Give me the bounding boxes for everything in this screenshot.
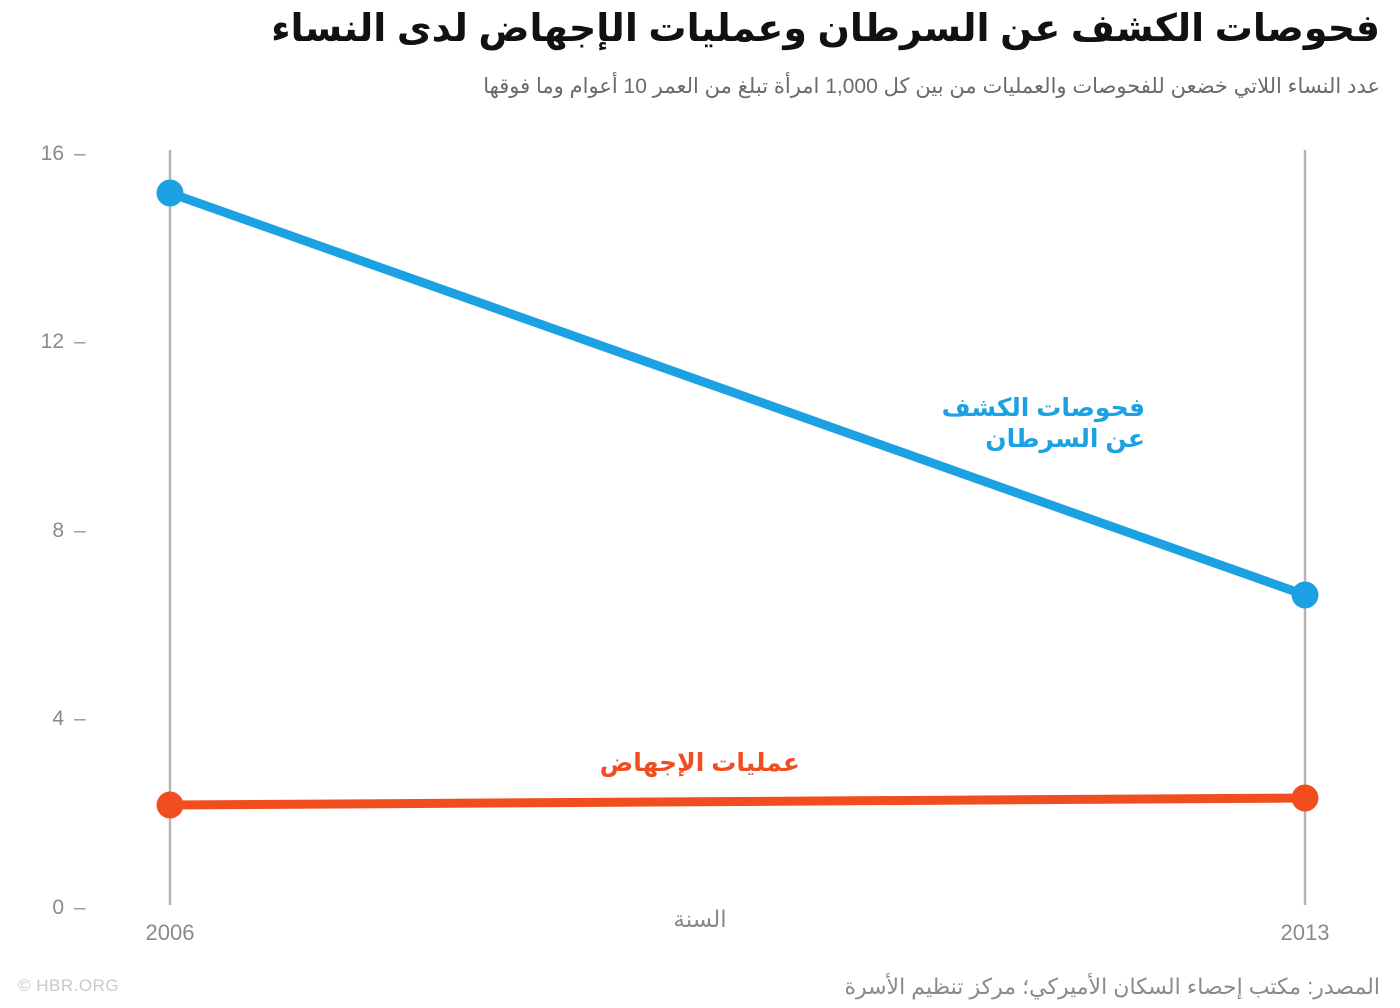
x-axis-title: السنة: [0, 906, 1400, 933]
series-point-abortion-2013: [1292, 785, 1319, 812]
y-axis-tick-12: 12–: [18, 330, 108, 354]
y-axis-tick-16: 16–: [18, 142, 108, 166]
series-point-abortion-2006: [157, 792, 184, 819]
y-axis-tick-4: 4–: [18, 707, 108, 731]
chart-plot-area: [0, 0, 1400, 1008]
series-label-screening: فحوصات الكشف عن السرطان: [942, 393, 1145, 456]
hbr-credit: © HBR.ORG: [18, 976, 119, 996]
y-tick-dash: –: [74, 519, 86, 543]
y-tick-dash: –: [74, 142, 86, 166]
y-axis-tick-8: 8–: [18, 519, 108, 543]
chart-svg: [0, 0, 1400, 1008]
source-note: المصدر: مكتب إحصاء السكان الأميركي؛ مركز…: [240, 974, 1380, 1000]
y-tick-dash: –: [74, 707, 86, 731]
series-label-abortion: عمليات الإجهاض: [600, 748, 800, 779]
y-tick-dash: –: [74, 330, 86, 354]
series-line-abortion: [170, 798, 1305, 805]
series-point-screening-2006: [157, 180, 184, 207]
chart-page: فحوصات الكشف عن السرطان وعمليات الإجهاض …: [0, 0, 1400, 1008]
series-point-screening-2013: [1292, 582, 1319, 609]
